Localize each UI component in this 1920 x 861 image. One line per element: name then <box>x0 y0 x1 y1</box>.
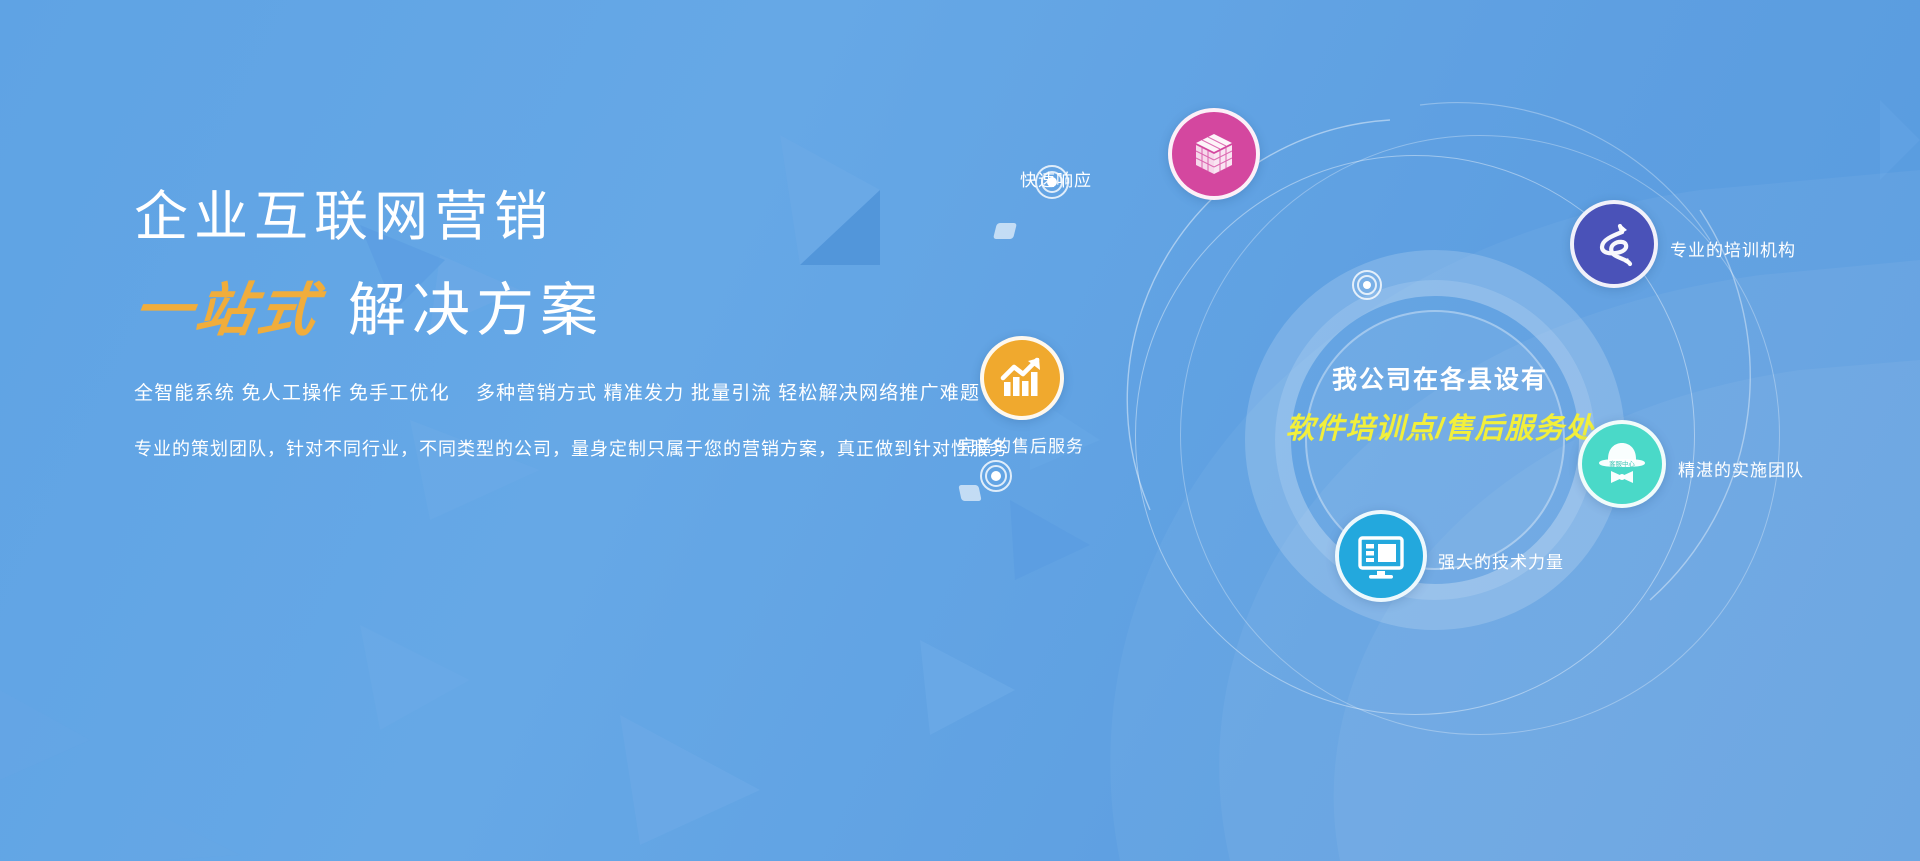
support-hat-icon-caption: 客服中心 <box>1609 459 1635 468</box>
headline-line-2: 一站式解决方案 <box>134 282 1054 340</box>
badge-label-professional-training: 专业的培训机构 <box>1670 236 1796 261</box>
pencil-loop-icon-glyph <box>1590 220 1638 268</box>
monitor-icon <box>1335 510 1427 602</box>
feature-line: 全智能系统 免人工操作 免手工优化多种营销方式 精准发力 批量引流 轻松解决网络… <box>134 378 1054 405</box>
hero-copy: 企业互联网营销 一站式解决方案 全智能系统 免人工操作 免手工优化多种营销方式 … <box>134 190 1054 461</box>
orbit-graphic: 我公司在各县设有 软件培训点/售后服务处 <box>1090 80 1920 780</box>
cube-icon <box>1168 108 1260 200</box>
headline-rest-text: 解决方案 <box>348 278 604 343</box>
center-message-line-2: 软件培训点/售后服务处 <box>1240 405 1640 447</box>
support-hat-icon-glyph: 客服中心 <box>1595 439 1649 489</box>
center-message-line-1: 我公司在各县设有 <box>1240 360 1640 396</box>
description-line: 专业的策划团队，针对不同行业，不同类型的公司，量身定制只属于您的营销方案，真正做… <box>134 435 1054 461</box>
support-hat-icon: 客服中心 <box>1578 420 1666 508</box>
cube-icon-glyph <box>1190 130 1238 178</box>
badge-label-fast-response: 快速响应 <box>1020 166 1092 191</box>
center-message: 我公司在各县设有 软件培训点/售后服务处 <box>1240 360 1640 447</box>
headline-accent-text: 一站式 <box>129 282 324 340</box>
headline-line-1: 企业互联网营销 <box>134 190 1054 244</box>
badge-label-tech-power: 强大的技术力量 <box>1438 548 1564 573</box>
bullseye-marker-upper-right <box>1352 270 1382 300</box>
feature-line-part-2: 多种营销方式 精准发力 批量引流 轻松解决网络推广难题 <box>476 383 980 404</box>
pencil-loop-icon <box>1570 200 1658 288</box>
marketing-banner: 企业互联网营销 一站式解决方案 全智能系统 免人工操作 免手工优化多种营销方式 … <box>0 0 1920 861</box>
tab-marker-left <box>958 485 981 501</box>
monitor-icon-glyph <box>1356 532 1406 580</box>
badge-label-skilled-team: 精湛的实施团队 <box>1678 456 1804 481</box>
feature-line-part-1: 全智能系统 免人工操作 免手工优化 <box>134 383 450 404</box>
bullseye-marker-left <box>980 460 1012 492</box>
